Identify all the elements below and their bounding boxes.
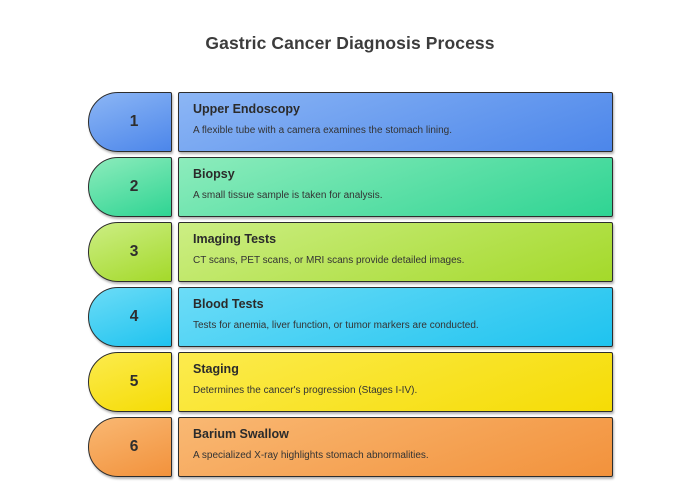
process-step-row[interactable]: 2BiopsyA small tissue sample is taken fo… bbox=[88, 157, 613, 217]
step-number-label: 5 bbox=[122, 373, 139, 391]
process-step-row[interactable]: 6Barium SwallowA specialized X-ray highl… bbox=[88, 417, 613, 477]
infographic-canvas: Gastric Cancer Diagnosis Process 1Upper … bbox=[0, 0, 700, 500]
page-title: Gastric Cancer Diagnosis Process bbox=[0, 33, 700, 54]
process-step-row[interactable]: 1Upper EndoscopyA flexible tube with a c… bbox=[88, 92, 613, 152]
step-heading: Biopsy bbox=[193, 167, 612, 182]
step-content-panel[interactable]: BiopsyA small tissue sample is taken for… bbox=[178, 157, 613, 217]
step-number-badge[interactable]: 3 bbox=[88, 222, 172, 282]
step-number-badge[interactable]: 6 bbox=[88, 417, 172, 477]
step-heading: Barium Swallow bbox=[193, 427, 612, 442]
step-number-label: 4 bbox=[122, 308, 139, 326]
step-content-panel[interactable]: Barium SwallowA specialized X-ray highli… bbox=[178, 417, 613, 477]
step-content-panel[interactable]: StagingDetermines the cancer's progressi… bbox=[178, 352, 613, 412]
step-description: Tests for anemia, liver function, or tum… bbox=[193, 320, 612, 332]
step-number-label: 1 bbox=[122, 113, 139, 131]
step-heading: Imaging Tests bbox=[193, 232, 612, 247]
step-number-label: 2 bbox=[122, 178, 139, 196]
step-number-label: 6 bbox=[122, 438, 139, 456]
process-step-list: 1Upper EndoscopyA flexible tube with a c… bbox=[88, 92, 613, 482]
step-number-badge[interactable]: 1 bbox=[88, 92, 172, 152]
step-content-panel[interactable]: Blood TestsTests for anemia, liver funct… bbox=[178, 287, 613, 347]
step-number-badge[interactable]: 5 bbox=[88, 352, 172, 412]
step-heading: Upper Endoscopy bbox=[193, 102, 612, 117]
process-step-row[interactable]: 3Imaging TestsCT scans, PET scans, or MR… bbox=[88, 222, 613, 282]
step-number-badge[interactable]: 2 bbox=[88, 157, 172, 217]
step-description: A flexible tube with a camera examines t… bbox=[193, 125, 612, 137]
process-step-row[interactable]: 4Blood TestsTests for anemia, liver func… bbox=[88, 287, 613, 347]
step-description: CT scans, PET scans, or MRI scans provid… bbox=[193, 255, 612, 267]
process-step-row[interactable]: 5StagingDetermines the cancer's progress… bbox=[88, 352, 613, 412]
step-heading: Staging bbox=[193, 362, 612, 377]
step-description: A small tissue sample is taken for analy… bbox=[193, 190, 612, 202]
step-content-panel[interactable]: Imaging TestsCT scans, PET scans, or MRI… bbox=[178, 222, 613, 282]
step-number-badge[interactable]: 4 bbox=[88, 287, 172, 347]
step-content-panel[interactable]: Upper EndoscopyA flexible tube with a ca… bbox=[178, 92, 613, 152]
step-heading: Blood Tests bbox=[193, 297, 612, 312]
step-description: Determines the cancer's progression (Sta… bbox=[193, 385, 612, 397]
step-number-label: 3 bbox=[122, 243, 139, 261]
step-description: A specialized X-ray highlights stomach a… bbox=[193, 450, 612, 462]
